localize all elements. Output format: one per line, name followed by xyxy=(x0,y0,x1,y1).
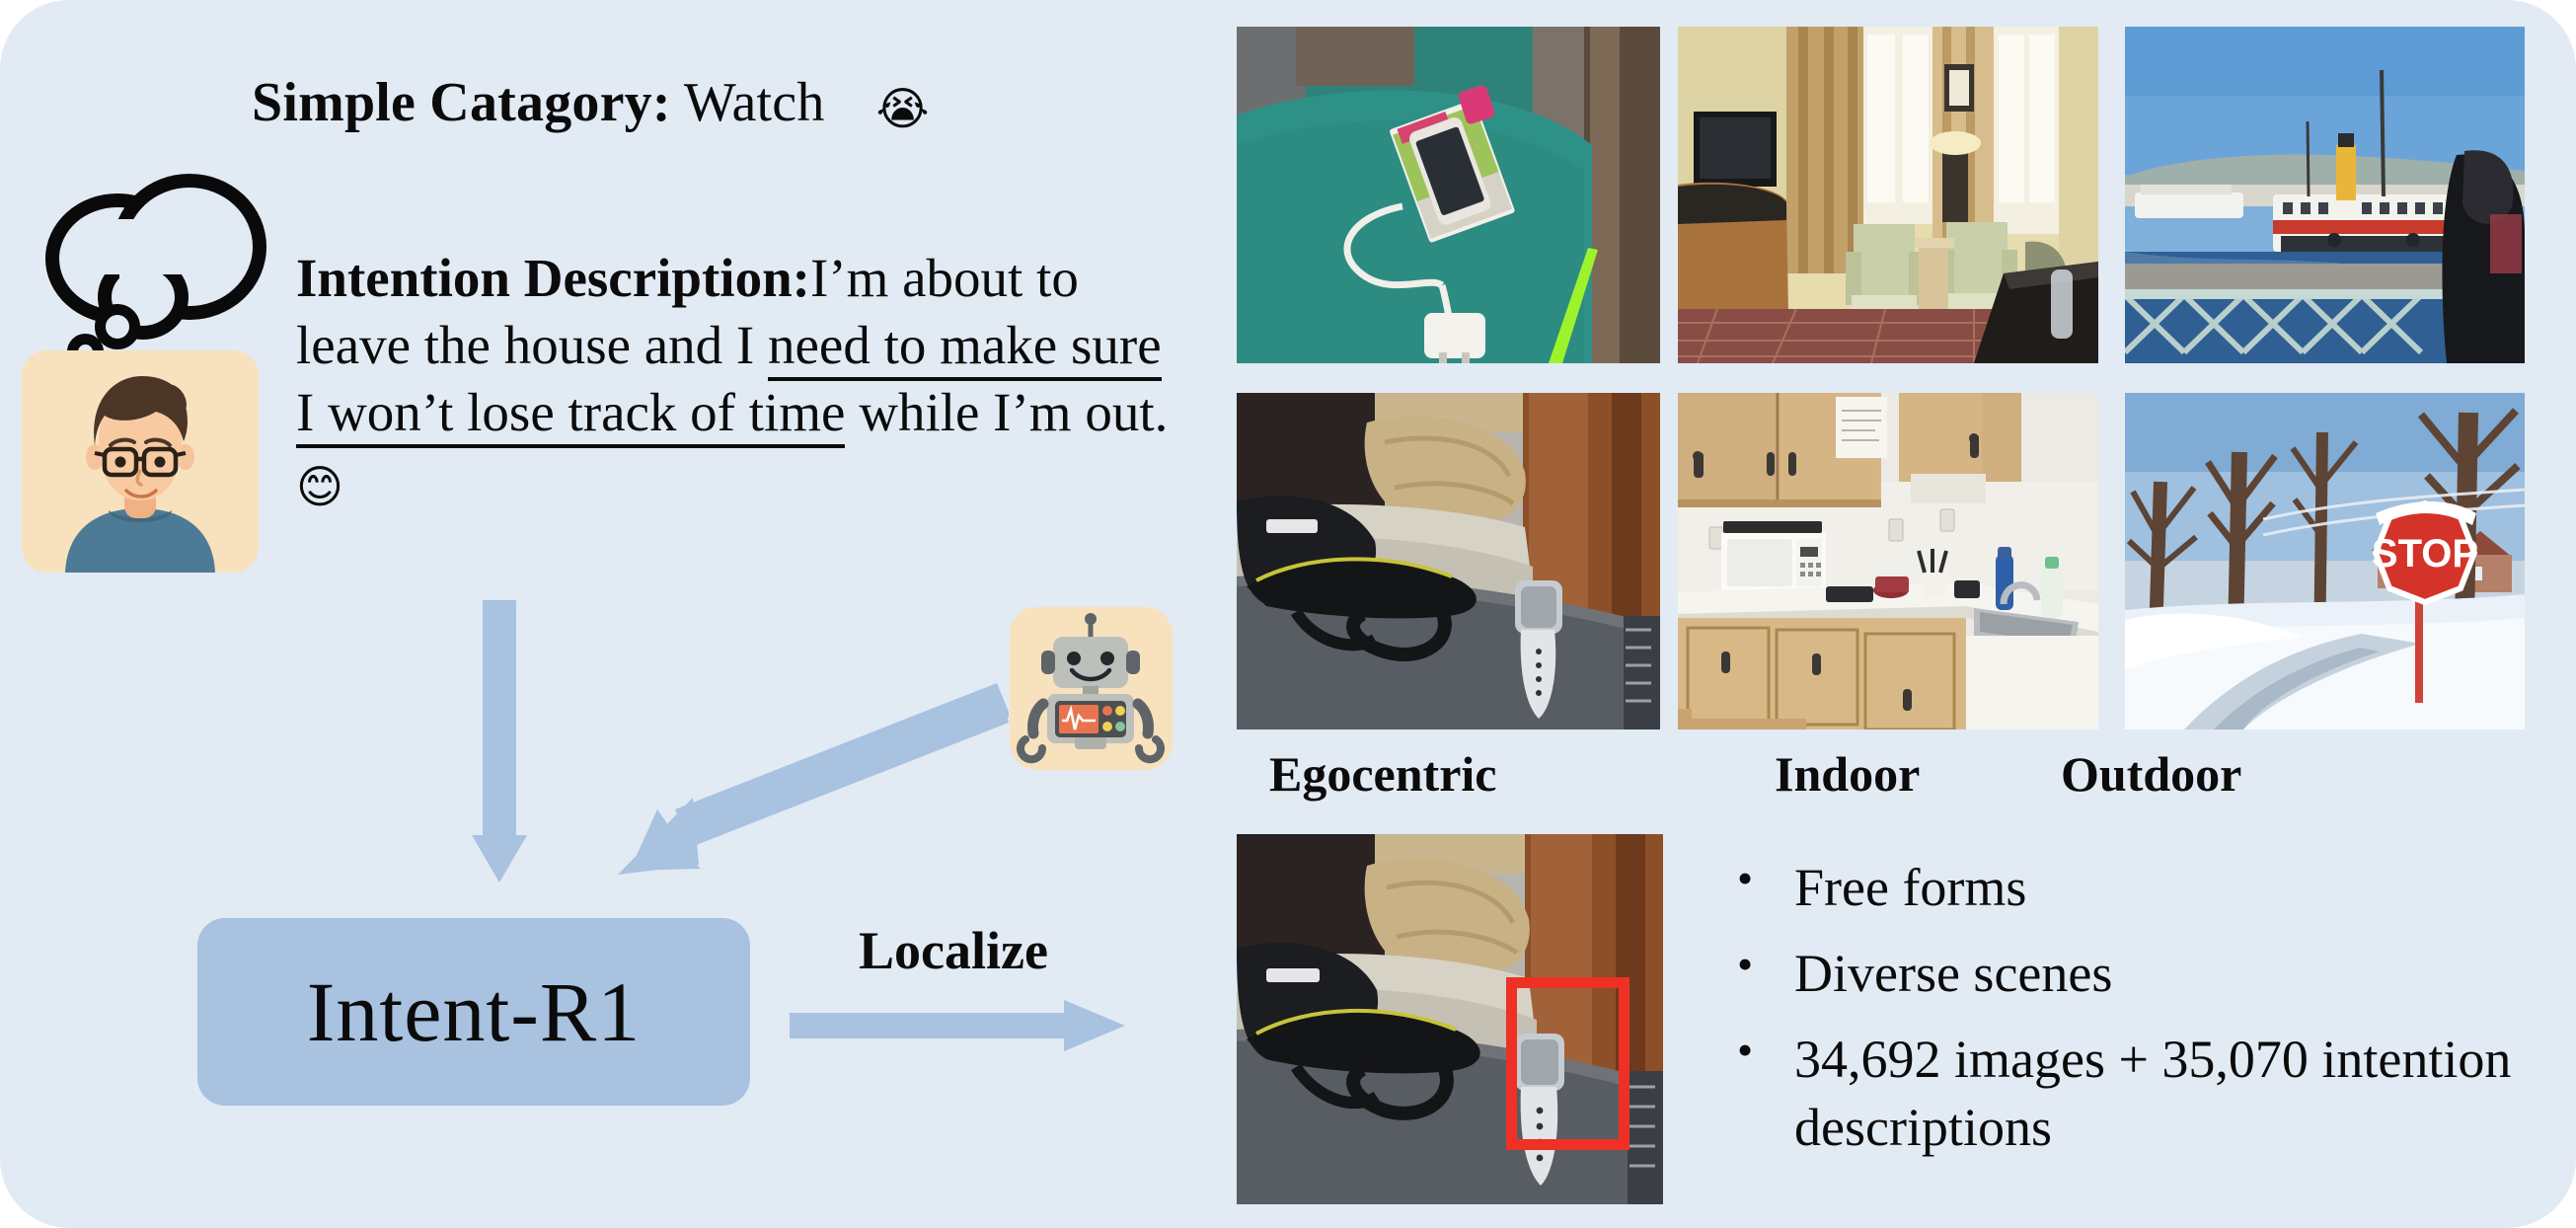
grid-labels: Egocentric Indoor Outdoor xyxy=(1237,745,2525,805)
dataset-highlights: Free forms Diverse scenes 34,692 images … xyxy=(1737,854,2527,1180)
intention-description-label: Intention Description: xyxy=(296,248,810,308)
simple-category-label: Simple Catagory: xyxy=(252,72,671,133)
smiling-face-icon: 😊 xyxy=(296,460,343,513)
intention-text-part2: while I’m out. xyxy=(845,382,1168,442)
intention-description-block: Intention Description:I’m about to leave… xyxy=(296,245,1184,515)
grid-label-outdoor: Outdoor xyxy=(2061,745,2241,803)
loudly-crying-face-icon: 😭 xyxy=(876,82,930,135)
grid-image-egocentric-selected[interactable] xyxy=(1237,393,1660,729)
simple-category-line: Simple Catagory: Watch 😭 xyxy=(252,71,930,135)
grid-label-indoor: Indoor xyxy=(1775,745,1920,803)
grid-image-indoor-2[interactable] xyxy=(1678,393,2098,729)
arrow-right-icon xyxy=(790,1000,1130,1051)
grid-label-egocentric: Egocentric xyxy=(1269,745,1496,803)
simple-category-value: Watch xyxy=(684,72,825,133)
list-item: Free forms xyxy=(1794,854,2527,922)
arrow-diagonal-icon xyxy=(594,681,1009,879)
figure-root: Simple Catagory: Watch 😭 Intention Descr… xyxy=(0,0,2576,1228)
grid-image-outdoor-2[interactable]: STOP xyxy=(2125,393,2525,729)
grid-image-indoor-1[interactable] xyxy=(1678,27,2098,363)
svg-text:STOP: STOP xyxy=(2372,532,2478,576)
list-item: Diverse scenes xyxy=(1794,940,2527,1008)
person-avatar xyxy=(22,350,259,573)
localize-label: Localize xyxy=(859,920,1048,981)
intent-r1-box[interactable]: Intent-R1 xyxy=(197,918,750,1106)
thought-bubble-icon xyxy=(36,158,248,321)
grid-image-egocentric-1[interactable] xyxy=(1237,27,1660,363)
bounding-box-watch xyxy=(1506,977,1629,1150)
arrow-down-icon xyxy=(483,600,516,882)
list-item: 34,692 images + 35,070 intention descrip… xyxy=(1794,1026,2527,1162)
intent-r1-label: Intent-R1 xyxy=(307,962,642,1061)
scene-image-grid: STOP xyxy=(1237,27,2525,729)
robot-icon xyxy=(1010,607,1173,770)
grid-image-outdoor-1[interactable] xyxy=(2125,27,2525,363)
